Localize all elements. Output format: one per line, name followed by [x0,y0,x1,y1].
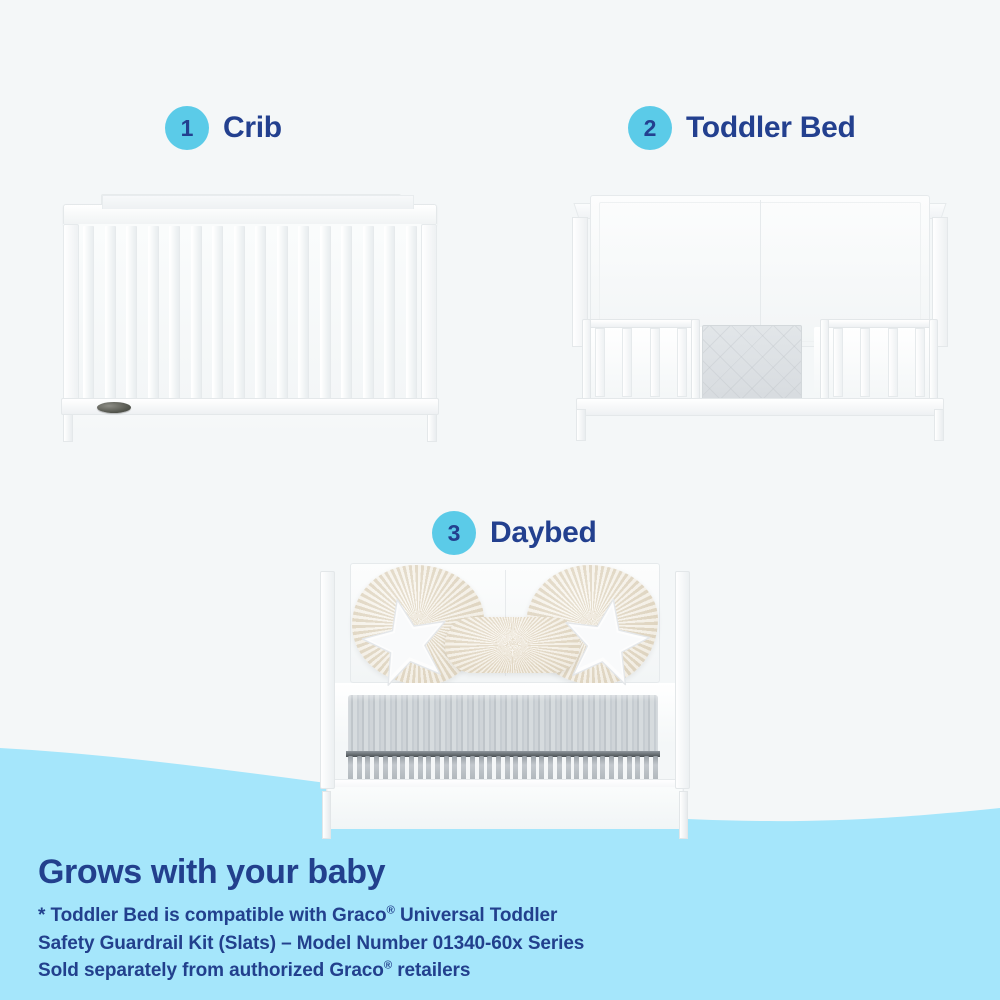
daybed-post-right [675,571,690,789]
daybed-leg-left [322,791,331,839]
step-badge-number-1: 1 [181,117,194,140]
crib-illustration [55,190,445,445]
toddler-bed-base-rail [576,398,944,416]
daybed-illustration [300,555,710,845]
guardrail-end-post-right-a [820,319,829,401]
crib-slat-group [83,226,417,402]
crib-front-panel [63,224,437,402]
toddler-bed-leg-right [934,409,944,441]
guardrail-slats-right [833,328,925,397]
footer-headline: Grows with your baby [38,853,584,892]
crib-post-right [421,224,437,402]
footer-text-block: Grows with your baby * Toddler Bed is co… [38,853,584,985]
step-badge-1: 1 [165,106,209,150]
crib-top-rail-inner [102,195,414,209]
toddler-bed-guardrail-left [582,319,700,401]
crib-under-shadow [69,415,431,435]
crib-leg-right [427,414,437,442]
footer-disclaimer: * Toddler Bed is compatible with Graco® … [38,902,584,985]
step-badge-number-3: 3 [448,522,461,545]
daybed-post-left [320,571,335,789]
disclaimer-line-2: Safety Guardrail Kit (Slats) – Model Num… [38,930,584,958]
daybed-star-pillow-left [351,586,460,695]
infographic-canvas: 1 Crib 2 Toddler Bed [0,0,1000,1000]
toddler-bed-guardrail-right [820,319,938,401]
toddler-bed-illustration [560,195,960,445]
graco-logo-badge-icon [97,402,131,413]
toddler-bed-quilted-mattress [702,325,802,405]
step-badge-2: 2 [628,106,672,150]
guardrail-end-post-left-a [582,319,591,401]
guardrail-top-bar-left [582,319,700,328]
step-badge-3: 3 [432,511,476,555]
step-title-crib: Crib [223,111,282,145]
blue-wave-background [0,0,1000,1000]
guardrail-end-post-right-b [929,319,938,401]
guardrail-top-bar-right [820,319,938,328]
daybed-under-shadow [328,787,682,829]
toddler-bed-leg-left [576,409,586,441]
disclaimer-line-1: * Toddler Bed is compatible with Graco® … [38,902,584,930]
step-title-daybed: Daybed [490,516,597,550]
crib-leg-left [63,414,73,442]
step-label-toddler-bed: 2 Toddler Bed [628,106,855,150]
crib-post-left [63,224,79,402]
disclaimer-line-3: Sold separately from authorized Graco® r… [38,957,584,985]
step-label-crib: 1 Crib [165,106,282,150]
daybed-leg-right [679,791,688,839]
guardrail-end-post-left-b [691,319,700,401]
crib-top-rail [63,204,437,226]
step-title-toddler-bed: Toddler Bed [686,111,855,145]
daybed-ribbed-blanket [348,695,658,753]
guardrail-slats-left [595,328,687,397]
step-badge-number-2: 2 [644,117,657,140]
daybed-star-pillow-right [553,588,660,695]
step-label-daybed: 3 Daybed [432,511,597,555]
